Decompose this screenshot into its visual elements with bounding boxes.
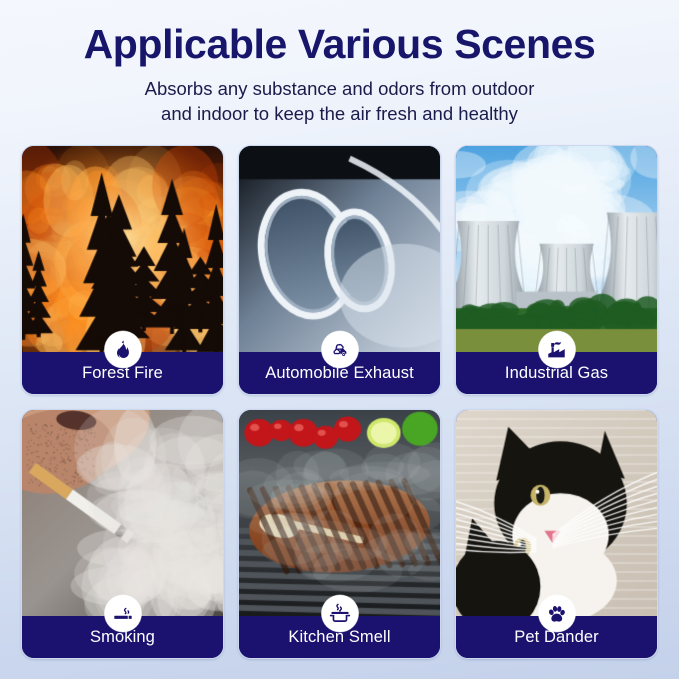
page-subtitle: Absorbs any substance and odors from out… — [70, 77, 610, 126]
scene-photo-pet-dander — [456, 410, 657, 618]
scene-photo-forest-fire — [22, 146, 223, 354]
paw-print-icon — [538, 595, 575, 632]
scene-card-grid: Forest Fire Automobile Exhaust — [21, 145, 658, 659]
cooking-pot-icon — [321, 595, 358, 632]
scene-photo-kitchen-smell — [239, 410, 440, 618]
header: Applicable Various Scenes Absorbs any su… — [0, 0, 679, 126]
scene-photo-industrial-gas — [456, 146, 657, 354]
scene-card-forest-fire[interactable]: Forest Fire — [21, 145, 224, 395]
scene-photo-smoking — [22, 410, 223, 618]
flame-icon — [104, 331, 141, 368]
scene-card-pet-dander[interactable]: Pet Dander — [455, 409, 658, 659]
car-exhaust-icon — [321, 331, 358, 368]
subtitle-line-2: and indoor to keep the air fresh and hea… — [70, 102, 610, 127]
scene-card-kitchen-smell[interactable]: Kitchen Smell — [238, 409, 441, 659]
factory-icon — [538, 331, 575, 368]
cigarette-icon — [104, 595, 141, 632]
scene-card-industrial-gas[interactable]: Industrial Gas — [455, 145, 658, 395]
scene-card-automobile-exhaust[interactable]: Automobile Exhaust — [238, 145, 441, 395]
scene-card-smoking[interactable]: Smoking — [21, 409, 224, 659]
subtitle-line-1: Absorbs any substance and odors from out… — [70, 77, 610, 102]
page-title: Applicable Various Scenes — [0, 22, 679, 66]
scene-photo-automobile-exhaust — [239, 146, 440, 354]
scenes-infographic: Applicable Various Scenes Absorbs any su… — [0, 0, 679, 679]
